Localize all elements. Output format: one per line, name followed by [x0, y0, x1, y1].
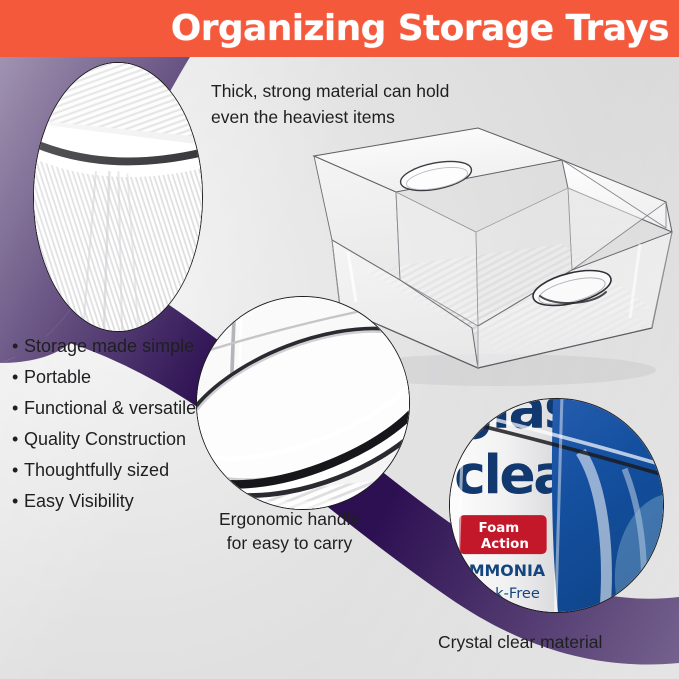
feature-item-2: • Functional & versatile [12, 396, 202, 421]
feature-label: Quality Construction [24, 427, 202, 452]
blue-liquid-bottle: WATER [552, 398, 664, 613]
bullet-dot-icon: • [12, 489, 24, 514]
feature-item-1: • Portable [12, 365, 202, 390]
caption-thickness: Thick, strong material can hold even the… [211, 78, 449, 130]
feature-item-5: • Easy Visibility [12, 489, 202, 514]
feature-label: Portable [24, 365, 202, 390]
caption-clarity: Crystal clear material [438, 630, 602, 654]
bullet-dot-icon: • [12, 365, 24, 390]
detail-circle-thickness [33, 62, 203, 332]
feature-label: Thoughtfully sized [24, 458, 202, 483]
svg-text:AMMONIA: AMMONIA [457, 561, 546, 580]
bullet-dot-icon: • [12, 334, 24, 359]
detail-circle-clarity: atify AMMO ncing es & polish od and more… [449, 398, 664, 613]
infographic-stage: Thick, strong material can hold even the… [0, 0, 679, 679]
detail-circle-handle [196, 296, 410, 510]
bullet-dot-icon: • [12, 458, 24, 483]
stored-products-photo: atify AMMO ncing es & polish od and more… [449, 398, 664, 613]
svg-text:Streak-Free: Streak-Free [457, 585, 540, 602]
bullet-dot-icon: • [12, 427, 24, 452]
svg-text:Foam: Foam [479, 521, 520, 536]
caption-handle: Ergonomic handle for easy to carry [219, 507, 360, 555]
feature-item-4: • Thoughtfully sized [12, 458, 202, 483]
feature-label: Storage made simple [24, 334, 202, 359]
feature-label: Easy Visibility [24, 489, 202, 514]
feature-bullet-list: • Storage made simple • Portable • Funct… [12, 334, 202, 520]
header-bar: Organizing Storage Trays [0, 0, 679, 57]
feature-label: Functional & versatile [24, 396, 202, 421]
bullet-dot-icon: • [12, 396, 24, 421]
feature-item-0: • Storage made simple [12, 334, 202, 359]
page-title: Organizing Storage Trays [171, 2, 669, 55]
feature-item-3: • Quality Construction [12, 427, 202, 452]
svg-text:Action: Action [481, 537, 529, 552]
